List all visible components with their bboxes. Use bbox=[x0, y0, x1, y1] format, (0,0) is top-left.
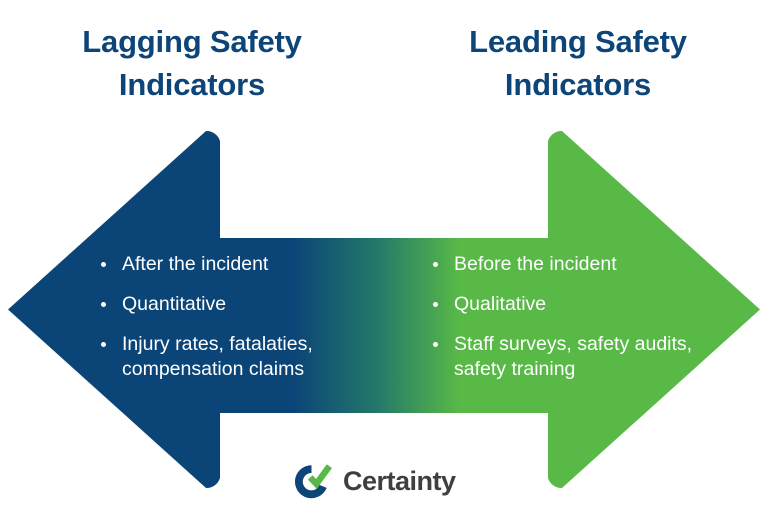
certainty-logo: Certainty bbox=[291, 461, 456, 501]
bullet-dot-icon bbox=[101, 302, 106, 307]
bullet-dot-icon bbox=[101, 262, 106, 267]
bullet-text: Quantitative bbox=[122, 293, 226, 315]
right-heading: Leading Safety Indicators bbox=[413, 20, 743, 106]
list-item: After the incident bbox=[100, 252, 362, 277]
list-item: Qualitative bbox=[432, 292, 700, 317]
bullet-dot-icon bbox=[433, 302, 438, 307]
bullet-text: Qualitative bbox=[454, 293, 546, 315]
logo-checkmark bbox=[310, 466, 329, 484]
list-item: Staff surveys, safety audits, safety tra… bbox=[432, 332, 700, 382]
infographic-canvas: Lagging Safety Indicators Leading Safety… bbox=[0, 0, 768, 512]
bullet-text: Staff surveys, safety audits, safety tra… bbox=[454, 333, 692, 380]
list-item: Before the incident bbox=[432, 252, 700, 277]
certainty-c-check-icon bbox=[291, 461, 335, 501]
left-bullet-list: After the incident Quantitative Injury r… bbox=[100, 252, 362, 382]
bullet-text: Injury rates, fatalaties, compensation c… bbox=[122, 333, 313, 380]
bullet-dot-icon bbox=[433, 262, 438, 267]
bullet-dot-icon bbox=[433, 342, 438, 347]
list-item: Injury rates, fatalaties, compensation c… bbox=[100, 332, 362, 382]
left-heading: Lagging Safety Indicators bbox=[27, 20, 357, 106]
right-bullet-list: Before the incident Qualitative Staff su… bbox=[432, 252, 700, 382]
bullet-text: Before the incident bbox=[454, 253, 617, 275]
list-item: Quantitative bbox=[100, 292, 362, 317]
logo-wordmark: Certainty bbox=[343, 468, 456, 495]
bullet-dot-icon bbox=[101, 342, 106, 347]
bullet-text: After the incident bbox=[122, 253, 268, 275]
